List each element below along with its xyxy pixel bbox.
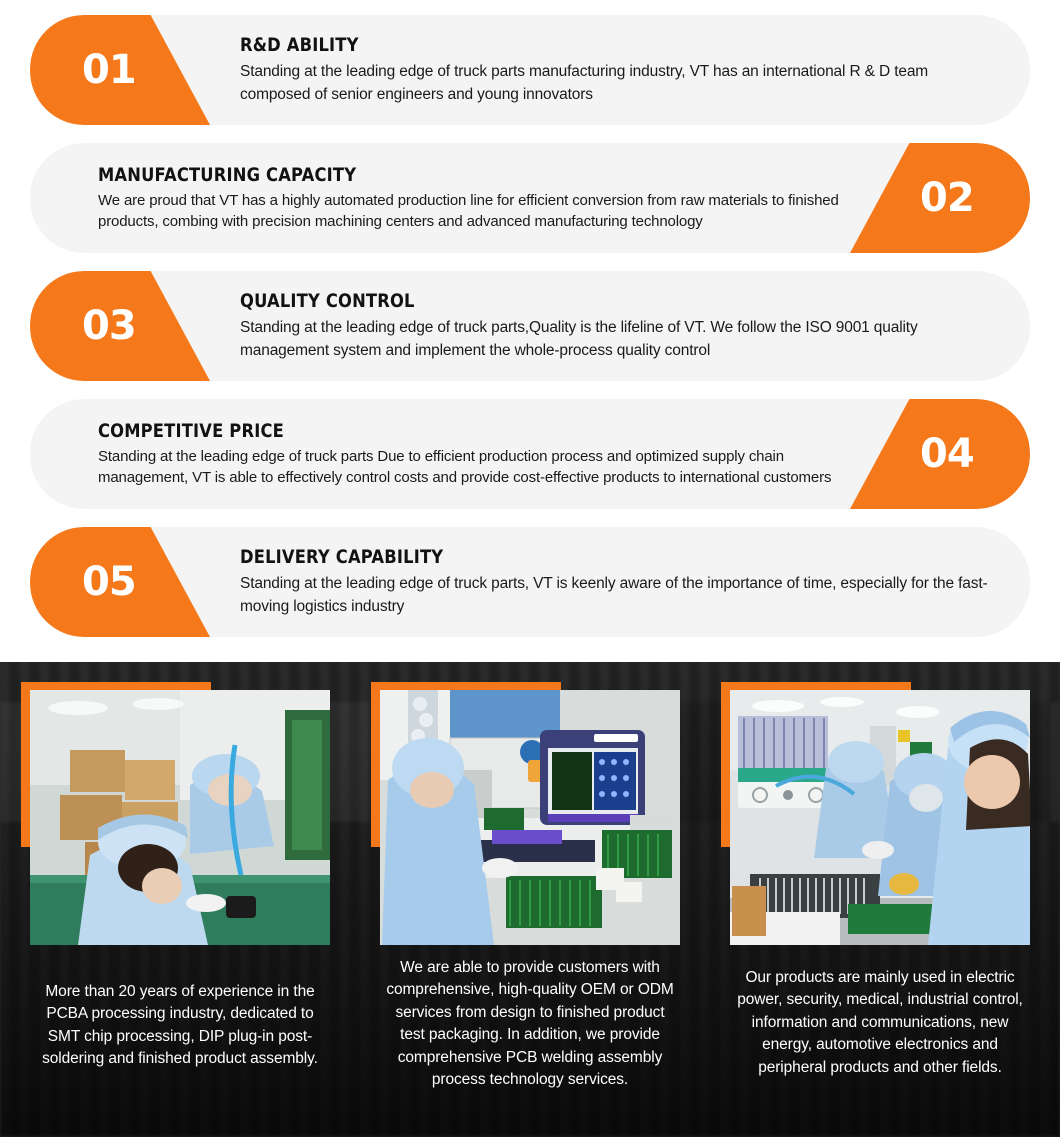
feature-title-05: DELIVERY CAPABILITY xyxy=(240,546,888,568)
feature-body-05: Standing at the leading edge of truck pa… xyxy=(240,573,994,619)
feature-body-02: We are proud that VT has a highly automa… xyxy=(98,191,840,232)
gallery-item-3: Our products are mainly used in electric… xyxy=(730,690,1030,1092)
gallery-item-2: We are able to provide customers with co… xyxy=(380,690,680,1092)
feature-body-01: Standing at the leading edge of truck pa… xyxy=(240,61,994,107)
gallery-caption-3: Our products are mainly used in electric… xyxy=(730,945,1030,1079)
aoi-inspection-machine-photo[interactable] xyxy=(380,690,680,945)
feature-title-02: MANUFACTURING CAPACITY xyxy=(98,164,736,186)
gallery-section: More than 20 years of experience in the … xyxy=(0,662,1060,1137)
feature-title-04: COMPETITIVE PRICE xyxy=(98,420,736,442)
feature-body-03: Standing at the leading edge of truck pa… xyxy=(240,317,994,363)
feature-text-03: QUALITY CONTROL Standing at the leading … xyxy=(240,290,1030,363)
feature-badge-05: 05 xyxy=(30,527,210,637)
feature-badge-01: 01 xyxy=(30,15,210,125)
feature-title-03: QUALITY CONTROL xyxy=(240,290,888,312)
gallery-caption-1: More than 20 years of experience in the … xyxy=(30,945,330,1071)
feature-body-04: Standing at the leading edge of truck pa… xyxy=(98,447,840,488)
production-line-workers-photo[interactable] xyxy=(730,690,1030,945)
feature-number-01: 01 xyxy=(82,50,136,90)
feature-card-03[interactable]: 03 QUALITY CONTROL Standing at the leadi… xyxy=(30,271,1030,381)
gallery-item-1: More than 20 years of experience in the … xyxy=(30,690,330,1092)
feature-card-05[interactable]: 05 DELIVERY CAPABILITY Standing at the l… xyxy=(30,527,1030,637)
feature-text-02: MANUFACTURING CAPACITY We are proud that… xyxy=(98,164,1030,232)
feature-title-01: R&D ABILITY xyxy=(240,34,888,56)
feature-badge-03: 03 xyxy=(30,271,210,381)
gallery-caption-2: We are able to provide customers with co… xyxy=(380,945,680,1092)
feature-card-04[interactable]: 04 COMPETITIVE PRICE Standing at the lea… xyxy=(30,399,1030,509)
pcba-assembly-workers-photo[interactable] xyxy=(30,690,330,945)
feature-text-05: DELIVERY CAPABILITY Standing at the lead… xyxy=(240,546,1030,619)
gallery-row: More than 20 years of experience in the … xyxy=(0,662,1060,1092)
feature-card-02[interactable]: 02 MANUFACTURING CAPACITY We are proud t… xyxy=(30,143,1030,253)
feature-number-05: 05 xyxy=(82,562,136,602)
feature-card-01[interactable]: 01 R&D ABILITY Standing at the leading e… xyxy=(30,15,1030,125)
feature-text-01: R&D ABILITY Standing at the leading edge… xyxy=(240,34,1030,107)
features-section: 01 R&D ABILITY Standing at the leading e… xyxy=(0,0,1060,662)
feature-number-03: 03 xyxy=(82,306,136,346)
feature-text-04: COMPETITIVE PRICE Standing at the leadin… xyxy=(98,420,1030,488)
